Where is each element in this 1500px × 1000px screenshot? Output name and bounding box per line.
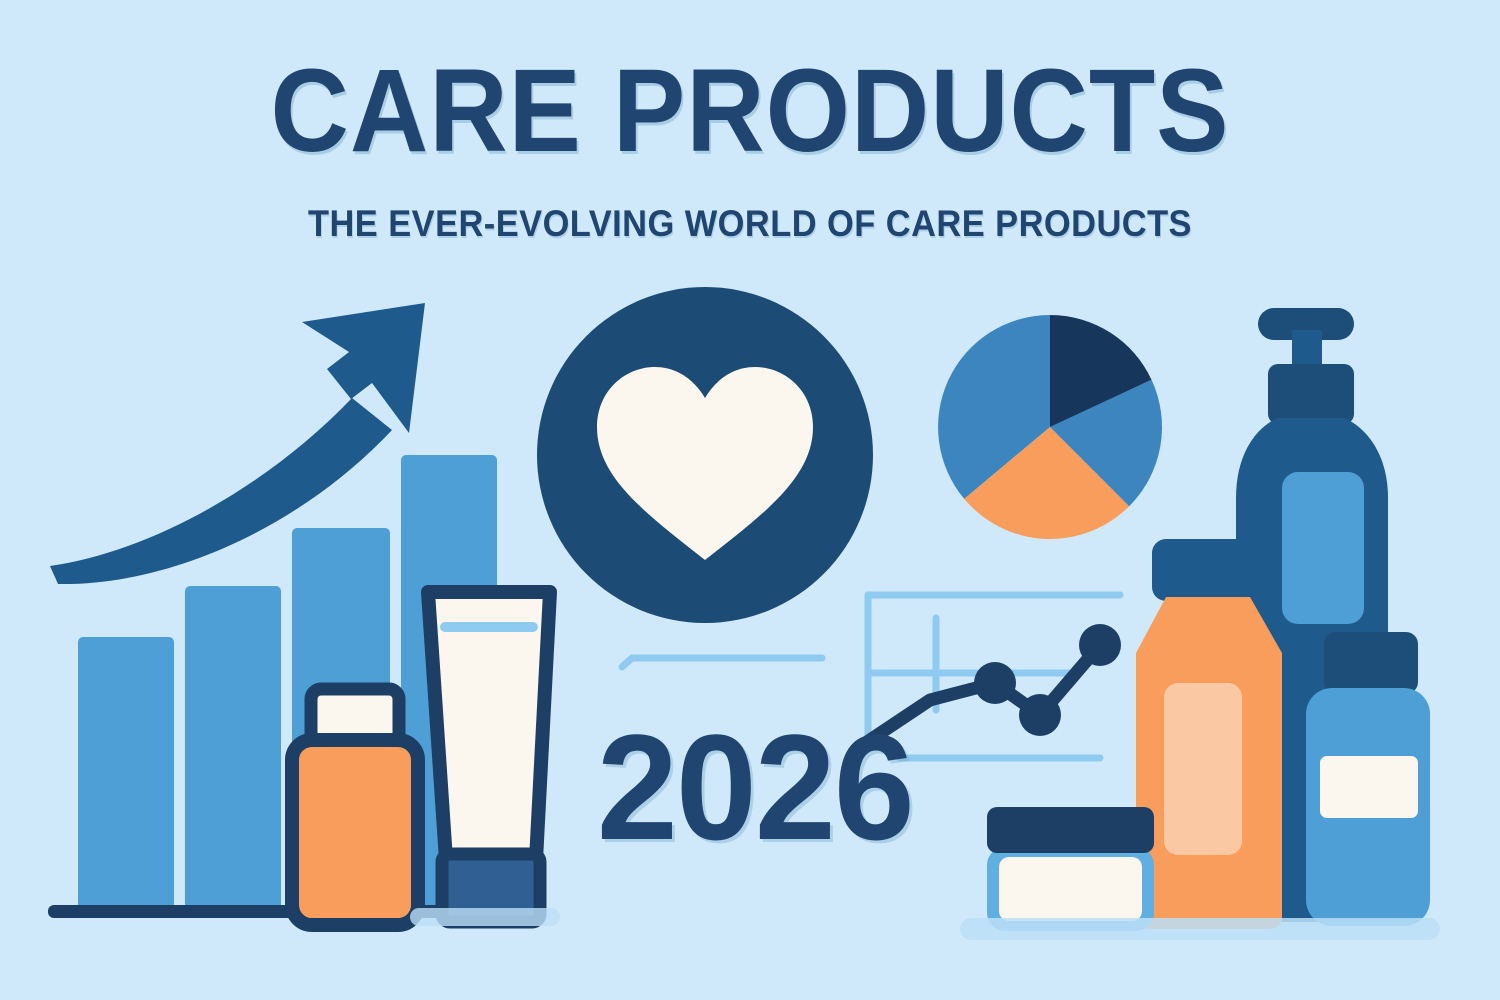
page-subtitle: THE EVER-EVOLVING WORLD OF CARE PRODUCTS: [53, 205, 1448, 242]
blue-jar-svg: [1300, 628, 1460, 933]
bar-chart-bar: [78, 637, 174, 912]
orange-bottle-cap: [1152, 539, 1268, 601]
bar-chart-bar: [185, 586, 281, 912]
pump-shoulder: [1268, 364, 1354, 424]
product-cream-tube: [418, 578, 568, 933]
cream-jar-body: [999, 857, 1142, 921]
pill-bottle-svg: [285, 685, 425, 930]
blue-jar-label: [1320, 756, 1418, 818]
line-chart-point: [1019, 694, 1061, 736]
pie-chart-svg: [930, 305, 1175, 550]
pie-chart-group: [930, 305, 1175, 550]
cream-tube-body: [428, 592, 550, 860]
line-chart-point: [1079, 624, 1121, 666]
line-chart-point: [974, 662, 1016, 704]
pill-bottle-body: [292, 740, 418, 925]
ground-shadow: [410, 908, 560, 926]
infographic-canvas: 2026: [0, 0, 1500, 1000]
cream-tube-svg: [418, 578, 568, 933]
product-blue-jar: [1300, 628, 1460, 933]
cream-jar-lid: [987, 807, 1154, 853]
year-label: 2026: [597, 712, 913, 862]
cream-tube-stripe: [440, 622, 538, 632]
page-title: CARE PRODUCTS: [60, 52, 1440, 170]
product-pill-bottle: [285, 685, 425, 930]
ground-shadow: [960, 918, 1440, 940]
orange-bottle-label: [1164, 683, 1242, 855]
blue-jar-cap: [1324, 632, 1418, 694]
